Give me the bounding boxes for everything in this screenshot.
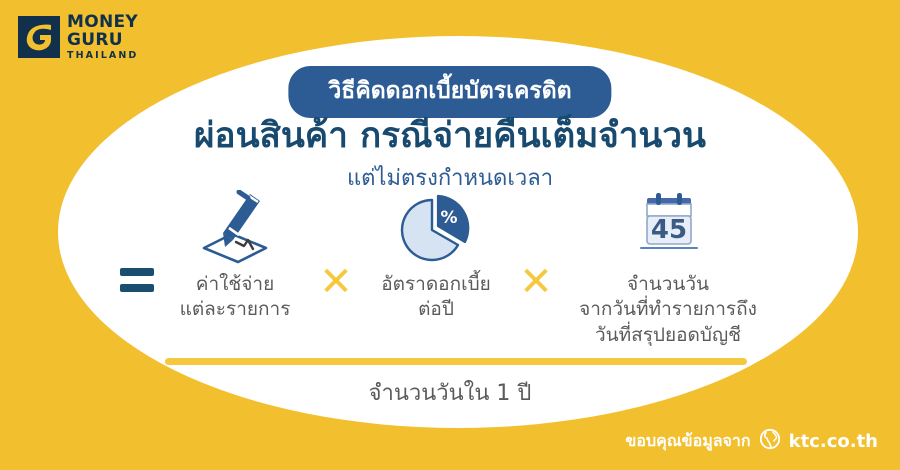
formula-row: ค่าใช้จ่าย แต่ละรายการ ✕ % อัตราดอกเบี้ย… — [0, 190, 900, 348]
calendar-day-value: 45 — [651, 215, 687, 245]
globe-glyph — [759, 428, 781, 450]
days-label-line3: วันที่สรุปยอดบัญชี — [579, 323, 757, 348]
expense-label-line1: ค่าใช้จ่าย — [180, 272, 291, 297]
brand-name-guru: GURU — [67, 32, 138, 49]
expense-label-line2: แต่ละรายการ — [180, 297, 291, 322]
brand-name-money: MONEY — [67, 14, 138, 31]
formula-term-expense: ค่าใช้จ่าย แต่ละรายการ — [154, 190, 316, 323]
globe-icon — [759, 428, 781, 454]
page-title: ผ่อนสินค้า กรณีจ่ายคืนเต็มจำนวน — [0, 108, 900, 163]
multiply-icon-1: ✕ — [316, 262, 356, 302]
formula-term-days-label: จำนวนวัน จากวันที่ทำรายการถึง วันที่สรุป… — [579, 272, 757, 348]
calendar-glyph: 45 — [627, 190, 709, 266]
equals-icon — [120, 268, 154, 300]
days-label-line1: จำนวนวัน — [579, 272, 757, 297]
credit-text: ขอบคุณข้อมูลจาก — [625, 429, 750, 454]
pen-document-glyph — [192, 190, 278, 266]
infographic-canvas: MONEY GURU THAILAND วิธีคิดดอกเบี้ยบัตรเ… — [0, 0, 900, 470]
moneyguru-glyph — [18, 16, 60, 58]
multiply-icon-2: ✕ — [516, 262, 556, 302]
calendar-icon: 45 — [627, 190, 709, 266]
source-url: ktc.co.th — [789, 431, 878, 452]
days-label-line2: จากวันที่ทำรายการถึง — [579, 297, 757, 322]
percent-symbol: % — [440, 208, 457, 228]
rate-label-line1: อัตราดอกเบี้ย — [381, 272, 491, 297]
rate-label-line2: ต่อปี — [381, 297, 491, 322]
source-credit: ขอบคุณข้อมูลจาก ktc.co.th — [625, 428, 878, 454]
pie-chart-glyph: % — [396, 190, 476, 266]
moneyguru-mark-icon — [18, 16, 60, 58]
fraction-bar — [165, 358, 747, 365]
formula-term-days: 45 จำนวนวัน จากวันที่ทำรายการถึง วันที่ส… — [556, 190, 780, 348]
brand-logo: MONEY GURU THAILAND — [18, 14, 138, 61]
multiply-symbol-2: ✕ — [519, 262, 553, 302]
pie-chart-percent-icon: % — [396, 190, 476, 266]
formula-denominator: จำนวนวันใน 1 ปี — [0, 375, 900, 410]
brand-name-thailand: THAILAND — [67, 51, 138, 61]
formula-term-rate: % อัตราดอกเบี้ย ต่อปี — [356, 190, 516, 323]
pen-document-icon — [192, 190, 278, 266]
multiply-symbol-1: ✕ — [319, 262, 353, 302]
brand-wordmark: MONEY GURU THAILAND — [67, 14, 138, 61]
formula-term-rate-label: อัตราดอกเบี้ย ต่อปี — [381, 272, 491, 323]
formula-term-expense-label: ค่าใช้จ่าย แต่ละรายการ — [180, 272, 291, 323]
